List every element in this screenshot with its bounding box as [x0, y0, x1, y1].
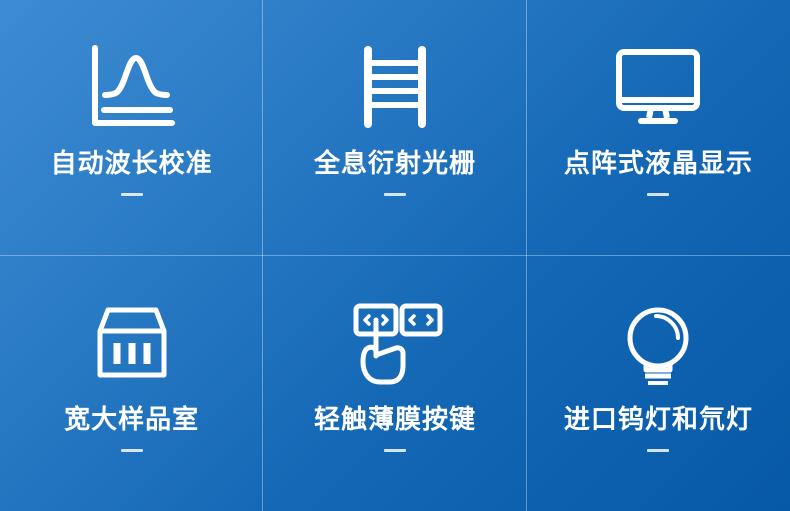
- feature-cell-imported-tungsten-deuterium-lamps[interactable]: 进口钨灯和氘灯: [527, 256, 790, 511]
- light-bulb-icon: [618, 300, 698, 386]
- feature-underline-dash: [121, 193, 143, 196]
- feature-title: 点阵式液晶显示: [564, 150, 753, 176]
- monitor-display-icon: [613, 44, 703, 130]
- feature-underline-dash: [647, 449, 669, 452]
- feature-cell-large-sample-chamber[interactable]: 宽大样品室: [0, 256, 263, 511]
- feature-title: 全息衍射光栅: [314, 150, 476, 176]
- diffraction-grating-icon: [358, 44, 432, 130]
- feature-title: 宽大样品室: [64, 406, 199, 432]
- feature-underline-dash: [384, 449, 406, 452]
- feature-underline-dash: [384, 193, 406, 196]
- hand-touch-keypad-icon: [346, 300, 444, 386]
- feature-underline-dash: [647, 193, 669, 196]
- feature-title: 轻触薄膜按键: [314, 406, 476, 432]
- feature-grid: 自动波长校准 全息衍射光栅: [0, 0, 790, 511]
- sample-chamber-box-icon: [90, 300, 174, 386]
- feature-title: 进口钨灯和氘灯: [564, 406, 753, 432]
- feature-title: 自动波长校准: [51, 150, 213, 176]
- feature-underline-dash: [121, 449, 143, 452]
- feature-cell-auto-wavelength-calibration[interactable]: 自动波长校准: [0, 0, 263, 256]
- feature-cell-touch-membrane-keypad[interactable]: 轻触薄膜按键: [263, 256, 526, 511]
- feature-cell-dot-matrix-lcd-display[interactable]: 点阵式液晶显示: [527, 0, 790, 256]
- feature-cell-holographic-diffraction-grating[interactable]: 全息衍射光栅: [263, 0, 526, 256]
- spectrum-peak-chart-icon: [86, 44, 178, 130]
